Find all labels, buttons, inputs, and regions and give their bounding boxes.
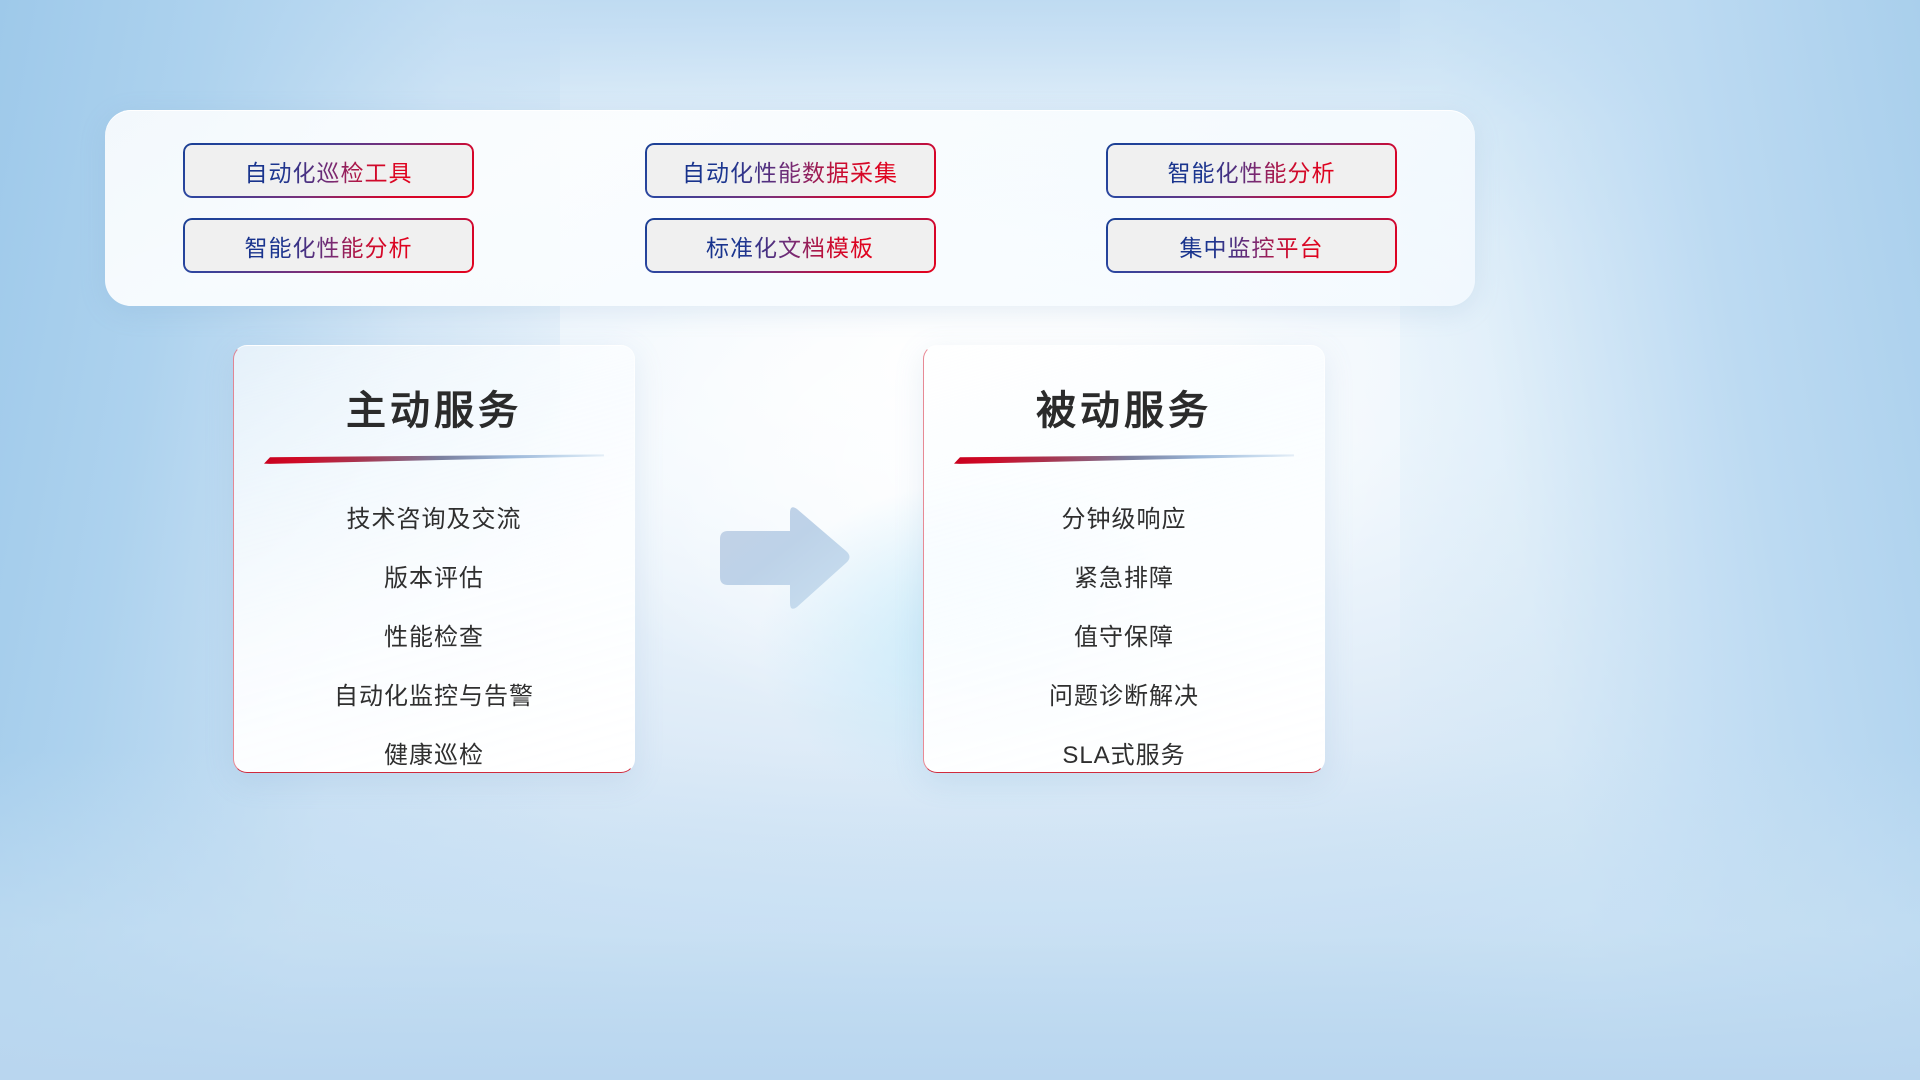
capability-tag-label: 标准化文档模板 [706,229,874,263]
list-item[interactable]: 健康巡检 [234,726,634,773]
capability-tag-intelligent-performance-analysis-2[interactable]: 智能化性能分析 [183,218,474,273]
list-item[interactable]: 性能检查 [234,608,634,667]
capability-tag-label: 智能化性能分析 [245,229,413,263]
capability-row-1: 自动化巡检工具 自动化性能数据采集 智能化性能分析 [183,143,1397,198]
list-item[interactable]: 分钟级响应 [924,490,1324,549]
list-item[interactable]: 版本评估 [234,549,634,608]
list-item[interactable]: 紧急排障 [924,549,1324,608]
service-card-title: 被动服务 [924,378,1324,436]
list-item[interactable]: 问题诊断解决 [924,667,1324,726]
capability-tag-intelligent-performance-analysis[interactable]: 智能化性能分析 [1106,143,1397,198]
capability-tag-automated-performance-data-collection[interactable]: 自动化性能数据采集 [645,143,936,198]
list-item[interactable]: 技术咨询及交流 [234,490,634,549]
capability-tag-standardized-document-template[interactable]: 标准化文档模板 [645,218,936,273]
capability-tag-label: 自动化性能数据采集 [682,154,898,188]
service-card-item-list: 技术咨询及交流 版本评估 性能检查 自动化监控与告警 健康巡检 [234,490,634,773]
capability-tag-label: 智能化性能分析 [1168,154,1336,188]
capability-tag-centralized-monitoring-platform[interactable]: 集中监控平台 [1106,218,1397,273]
list-item[interactable]: 值守保障 [924,608,1324,667]
capability-tag-label: 集中监控平台 [1180,229,1324,263]
title-divider [954,454,1294,464]
right-arrow-icon [714,503,854,613]
service-card-item-list: 分钟级响应 紧急排障 值守保障 问题诊断解决 SLA式服务 [924,490,1324,773]
capability-tag-label: 自动化巡检工具 [245,154,413,188]
capability-row-2: 智能化性能分析 标准化文档模板 集中监控平台 [183,218,1397,273]
list-item[interactable]: 自动化监控与告警 [234,667,634,726]
service-card-proactive[interactable]: 主动服务 技术咨询及交流 版本评估 性能检查 自动化监控与告警 健康巡检 [233,345,635,773]
capability-panel: 自动化巡检工具 自动化性能数据采集 智能化性能分析 智能化性能分析 标准化文档模… [105,110,1475,306]
title-divider [264,454,604,464]
capability-tag-automated-inspection-tool[interactable]: 自动化巡检工具 [183,143,474,198]
list-item[interactable]: SLA式服务 [924,726,1324,773]
service-card-title: 主动服务 [234,378,634,436]
service-card-reactive[interactable]: 被动服务 分钟级响应 紧急排障 值守保障 问题诊断解决 SLA式服务 [923,345,1325,773]
